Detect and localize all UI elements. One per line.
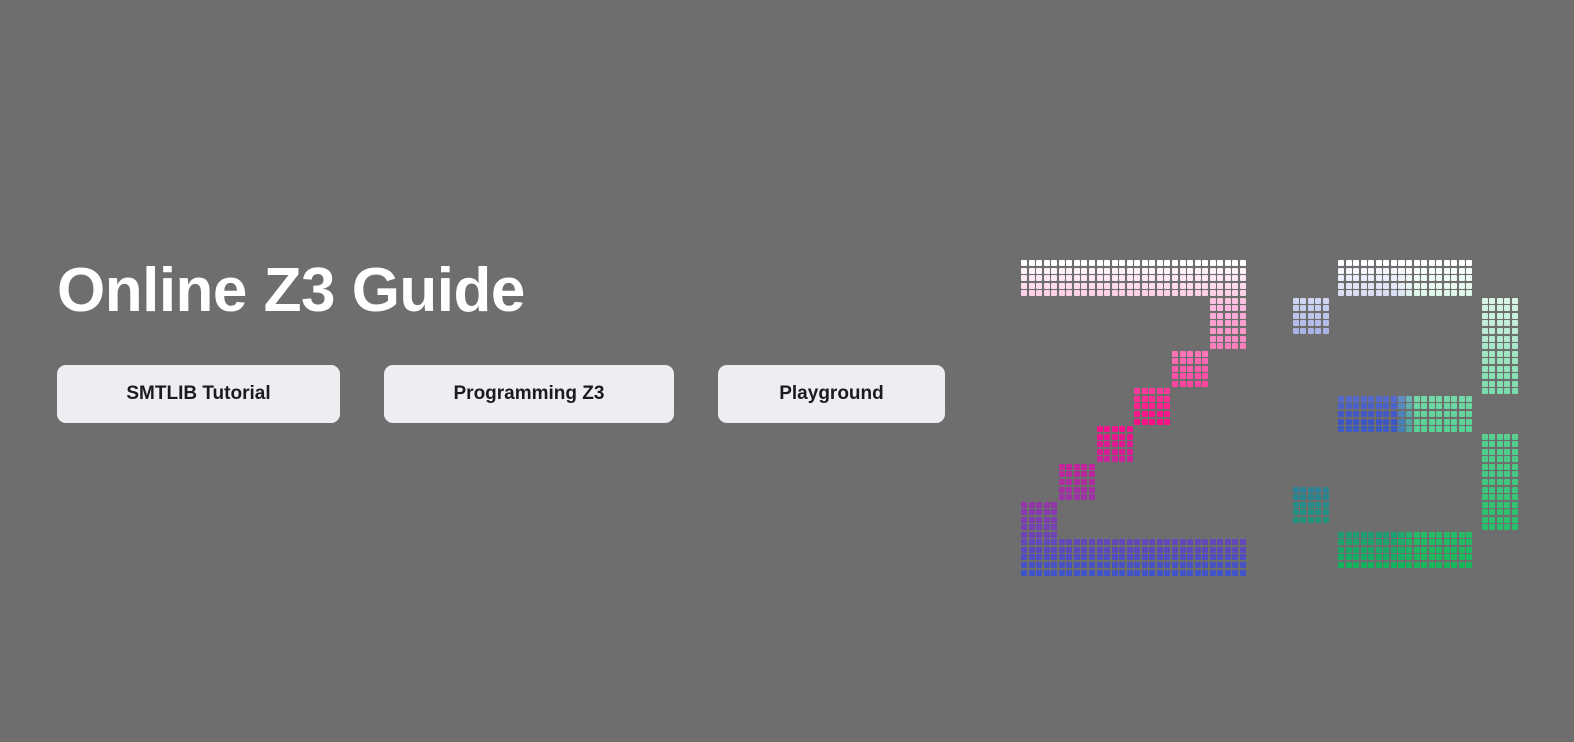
- logo-pixel: [1398, 396, 1404, 402]
- logo-pixel: [1127, 456, 1133, 462]
- logo-pixel: [1459, 290, 1465, 296]
- logo-pixel: [1504, 381, 1510, 387]
- logo-pixel: [1225, 313, 1231, 319]
- logo-pixel: [1097, 547, 1103, 553]
- logo-pixel: [1164, 403, 1170, 409]
- logo-pixel: [1134, 268, 1140, 274]
- logo-pixel: [1512, 343, 1518, 349]
- logo-pixel: [1489, 524, 1495, 530]
- logo-pixel: [1074, 494, 1080, 500]
- logo-pixel: [1059, 268, 1065, 274]
- logo-pixel: [1164, 547, 1170, 553]
- logo-pixel: [1293, 328, 1299, 334]
- logo-pixel: [1497, 381, 1503, 387]
- logo-pixel: [1240, 260, 1246, 266]
- logo-pixel: [1368, 268, 1374, 274]
- logo-pixel: [1466, 547, 1472, 553]
- logo-pixel: [1134, 570, 1140, 576]
- logo-pixel: [1346, 426, 1352, 432]
- logo-pixel: [1119, 260, 1125, 266]
- logo-pixel: [1210, 283, 1216, 289]
- logo-pixel: [1149, 396, 1155, 402]
- logo-pixel: [1225, 268, 1231, 274]
- logo-pixel: [1119, 449, 1125, 455]
- logo-pixel: [1398, 539, 1404, 545]
- logo-pixel: [1497, 524, 1503, 530]
- logo-pixel: [1406, 290, 1412, 296]
- logo-pixel: [1180, 381, 1186, 387]
- logo-pixel: [1104, 570, 1110, 576]
- logo-pixel: [1466, 290, 1472, 296]
- logo-pixel: [1338, 268, 1344, 274]
- logo-pixel: [1202, 260, 1208, 266]
- logo-pixel: [1368, 283, 1374, 289]
- logo-pixel: [1391, 275, 1397, 281]
- logo-pixel: [1497, 517, 1503, 523]
- logo-pixel: [1436, 260, 1442, 266]
- logo-pixel: [1444, 411, 1450, 417]
- logo-pixel: [1036, 539, 1042, 545]
- logo-pixel: [1489, 434, 1495, 440]
- logo-pixel: [1376, 260, 1382, 266]
- logo-pixel: [1451, 547, 1457, 553]
- logo-pixel: [1504, 305, 1510, 311]
- logo-pixel: [1127, 449, 1133, 455]
- logo-pixel: [1240, 320, 1246, 326]
- logo-pixel: [1391, 403, 1397, 409]
- logo-pixel: [1451, 554, 1457, 560]
- logo-pixel: [1210, 554, 1216, 560]
- logo-pixel: [1353, 411, 1359, 417]
- logo-pixel: [1429, 275, 1435, 281]
- logo-pixel: [1029, 570, 1035, 576]
- logo-pixel: [1436, 283, 1442, 289]
- logo-pixel: [1414, 562, 1420, 568]
- logo-pixel: [1112, 456, 1118, 462]
- logo-pixel: [1089, 290, 1095, 296]
- logo-pixel: [1097, 554, 1103, 560]
- logo-pixel: [1112, 290, 1118, 296]
- logo-pixel: [1489, 358, 1495, 364]
- logo-pixel: [1406, 554, 1412, 560]
- logo-pixel: [1089, 494, 1095, 500]
- logo-pixel: [1142, 268, 1148, 274]
- logo-pixel: [1406, 275, 1412, 281]
- logo-pixel: [1436, 396, 1442, 402]
- logo-pixel: [1195, 260, 1201, 266]
- logo-pixel: [1134, 562, 1140, 568]
- logo-pixel: [1489, 509, 1495, 515]
- logo-pixel: [1157, 539, 1163, 545]
- logo-pixel: [1217, 305, 1223, 311]
- logo-pixel: [1104, 260, 1110, 266]
- logo-pixel: [1300, 328, 1306, 334]
- logo-pixel: [1323, 502, 1329, 508]
- logo-pixel: [1346, 554, 1352, 560]
- logo-pixel: [1414, 554, 1420, 560]
- logo-pixel: [1172, 358, 1178, 364]
- logo-pixel: [1338, 275, 1344, 281]
- logo-pixel: [1383, 532, 1389, 538]
- logo-pixel: [1202, 539, 1208, 545]
- logo-pixel: [1059, 562, 1065, 568]
- logo-pixel: [1504, 373, 1510, 379]
- logo-pixel: [1134, 396, 1140, 402]
- logo-pixel: [1497, 471, 1503, 477]
- logo-pixel: [1036, 570, 1042, 576]
- logo-pixel: [1489, 479, 1495, 485]
- logo-pixel: [1421, 396, 1427, 402]
- logo-pixel: [1217, 539, 1223, 545]
- logo-pixel: [1338, 411, 1344, 417]
- logo-pixel: [1459, 411, 1465, 417]
- logo-pixel: [1104, 562, 1110, 568]
- logo-pixel: [1202, 554, 1208, 560]
- logo-pixel: [1164, 554, 1170, 560]
- logo-pixel: [1497, 479, 1503, 485]
- logo-pixel: [1504, 336, 1510, 342]
- logo-pixel: [1414, 419, 1420, 425]
- logo-pixel: [1338, 419, 1344, 425]
- logo-pixel: [1127, 275, 1133, 281]
- logo-pixel: [1164, 419, 1170, 425]
- logo-pixel: [1368, 554, 1374, 560]
- logo-pixel: [1180, 366, 1186, 372]
- logo-pixel: [1036, 554, 1042, 560]
- logo-pixel: [1421, 532, 1427, 538]
- logo-pixel: [1398, 290, 1404, 296]
- logo-pixel: [1104, 449, 1110, 455]
- logo-pixel: [1187, 351, 1193, 357]
- logo-pixel: [1361, 268, 1367, 274]
- logo-pixel: [1383, 562, 1389, 568]
- logo-pixel: [1421, 547, 1427, 553]
- logo-pixel: [1180, 275, 1186, 281]
- logo-pixel: [1482, 449, 1488, 455]
- logo-pixel: [1112, 570, 1118, 576]
- logo-pixel: [1293, 502, 1299, 508]
- logo-pixel: [1240, 547, 1246, 553]
- logo-pixel: [1451, 275, 1457, 281]
- logo-pixel: [1066, 539, 1072, 545]
- logo-pixel: [1232, 343, 1238, 349]
- logo-pixel: [1376, 396, 1382, 402]
- logo-pixel: [1368, 403, 1374, 409]
- logo-pixel: [1157, 396, 1163, 402]
- logo-pixel: [1240, 298, 1246, 304]
- logo-pixel: [1119, 275, 1125, 281]
- logo-pixel: [1044, 502, 1050, 508]
- logo-pixel: [1361, 554, 1367, 560]
- logo-pixel: [1368, 562, 1374, 568]
- logo-pixel: [1127, 539, 1133, 545]
- logo-pixel: [1398, 411, 1404, 417]
- logo-pixel: [1497, 351, 1503, 357]
- logo-pixel: [1414, 283, 1420, 289]
- logo-pixel: [1300, 305, 1306, 311]
- logo-pixel: [1459, 260, 1465, 266]
- logo-pixel: [1504, 509, 1510, 515]
- logo-pixel: [1089, 539, 1095, 545]
- logo-pixel: [1346, 539, 1352, 545]
- logo-pixel: [1308, 320, 1314, 326]
- logo-pixel: [1338, 403, 1344, 409]
- logo-pixel: [1346, 275, 1352, 281]
- logo-pixel: [1104, 456, 1110, 462]
- logo-pixel: [1497, 366, 1503, 372]
- logo-pixel: [1512, 471, 1518, 477]
- logo-pixel: [1195, 570, 1201, 576]
- logo-pixel: [1504, 320, 1510, 326]
- logo-pixel: [1346, 411, 1352, 417]
- logo-pixel: [1466, 403, 1472, 409]
- logo-pixel: [1232, 320, 1238, 326]
- logo-pixel: [1081, 471, 1087, 477]
- logo-pixel: [1164, 283, 1170, 289]
- logo-pixel: [1308, 298, 1314, 304]
- logo-pixel: [1187, 358, 1193, 364]
- logo-pixel: [1134, 260, 1140, 266]
- logo-pixel: [1081, 494, 1087, 500]
- logo-pixel: [1414, 426, 1420, 432]
- logo-pixel: [1368, 411, 1374, 417]
- logo-pixel: [1142, 419, 1148, 425]
- logo-pixel: [1315, 494, 1321, 500]
- hero-section: Online Z3 Guide SMTLIB Tutorial Programm…: [0, 0, 1574, 742]
- logo-pixel: [1149, 290, 1155, 296]
- logo-pixel: [1097, 260, 1103, 266]
- logo-pixel: [1044, 547, 1050, 553]
- logo-pixel: [1036, 509, 1042, 515]
- logo-pixel: [1104, 426, 1110, 432]
- logo-pixel: [1489, 343, 1495, 349]
- logo-pixel: [1323, 494, 1329, 500]
- logo-pixel: [1429, 419, 1435, 425]
- logo-pixel: [1051, 562, 1057, 568]
- logo-pixel: [1036, 283, 1042, 289]
- logo-pixel: [1376, 403, 1382, 409]
- logo-pixel: [1414, 403, 1420, 409]
- logo-pixel: [1142, 283, 1148, 289]
- logo-pixel: [1119, 441, 1125, 447]
- logo-pixel: [1225, 562, 1231, 568]
- logo-pixel: [1119, 434, 1125, 440]
- logo-pixel: [1353, 419, 1359, 425]
- logo-pixel: [1059, 275, 1065, 281]
- logo-pixel: [1466, 426, 1472, 432]
- logo-pixel: [1406, 562, 1412, 568]
- logo-pixel: [1353, 539, 1359, 545]
- logo-pixel: [1036, 547, 1042, 553]
- logo-pixel: [1346, 396, 1352, 402]
- logo-pixel: [1112, 268, 1118, 274]
- logo-pixel: [1429, 562, 1435, 568]
- logo-pixel: [1059, 479, 1065, 485]
- logo-pixel: [1497, 336, 1503, 342]
- logo-pixel: [1504, 328, 1510, 334]
- logo-pixel: [1406, 532, 1412, 538]
- logo-pixel: [1187, 275, 1193, 281]
- logo-pixel: [1104, 539, 1110, 545]
- logo-pixel: [1361, 290, 1367, 296]
- logo-pixel: [1512, 449, 1518, 455]
- logo-pixel: [1421, 411, 1427, 417]
- logo-pixel: [1512, 517, 1518, 523]
- logo-pixel: [1180, 351, 1186, 357]
- logo-pixel: [1315, 320, 1321, 326]
- logo-pixel: [1315, 502, 1321, 508]
- logo-pixel: [1368, 426, 1374, 432]
- logo-pixel: [1421, 275, 1427, 281]
- logo-pixel: [1436, 562, 1442, 568]
- logo-pixel: [1232, 336, 1238, 342]
- logo-pixel: [1391, 539, 1397, 545]
- logo-pixel: [1429, 403, 1435, 409]
- logo-pixel: [1232, 570, 1238, 576]
- logo-pixel: [1187, 554, 1193, 560]
- logo-pixel: [1489, 494, 1495, 500]
- logo-pixel: [1421, 260, 1427, 266]
- logo-pixel: [1059, 290, 1065, 296]
- logo-pixel: [1232, 554, 1238, 560]
- logo-pixel: [1036, 562, 1042, 568]
- logo-pixel: [1089, 471, 1095, 477]
- logo-pixel: [1338, 260, 1344, 266]
- logo-pixel: [1240, 328, 1246, 334]
- logo-pixel: [1104, 290, 1110, 296]
- logo-pixel: [1240, 268, 1246, 274]
- logo-pixel: [1346, 532, 1352, 538]
- logo-pixel: [1497, 313, 1503, 319]
- logo-pixel: [1504, 441, 1510, 447]
- logo-pixel: [1436, 539, 1442, 545]
- logo-pixel: [1293, 494, 1299, 500]
- logo-pixel: [1406, 268, 1412, 274]
- logo-pixel: [1482, 517, 1488, 523]
- logo-pixel: [1142, 547, 1148, 553]
- logo-pixel: [1081, 290, 1087, 296]
- logo-pixel: [1361, 539, 1367, 545]
- logo-pixel: [1044, 260, 1050, 266]
- logo-pixel: [1097, 275, 1103, 281]
- logo-pixel: [1044, 570, 1050, 576]
- logo-pixel: [1149, 403, 1155, 409]
- logo-pixel: [1029, 524, 1035, 530]
- logo-pixel: [1398, 403, 1404, 409]
- logo-pixel: [1044, 275, 1050, 281]
- logo-pixel: [1368, 539, 1374, 545]
- logo-pixel: [1112, 434, 1118, 440]
- logo-pixel: [1059, 494, 1065, 500]
- logo-pixel: [1429, 426, 1435, 432]
- logo-pixel: [1029, 290, 1035, 296]
- logo-pixel: [1195, 562, 1201, 568]
- logo-pixel: [1353, 532, 1359, 538]
- logo-pixel: [1451, 290, 1457, 296]
- logo-pixel: [1097, 570, 1103, 576]
- logo-pixel: [1429, 539, 1435, 545]
- logo-pixel: [1361, 275, 1367, 281]
- logo-pixel: [1436, 547, 1442, 553]
- logo-pixel: [1059, 471, 1065, 477]
- logo-pixel: [1127, 562, 1133, 568]
- logo-pixel: [1074, 479, 1080, 485]
- logo-pixel: [1157, 260, 1163, 266]
- logo-pixel: [1300, 502, 1306, 508]
- logo-pixel: [1202, 290, 1208, 296]
- logo-pixel: [1180, 562, 1186, 568]
- logo-pixel: [1300, 517, 1306, 523]
- logo-pixel: [1406, 260, 1412, 266]
- logo-pixel: [1376, 283, 1382, 289]
- logo-pixel: [1398, 554, 1404, 560]
- logo-pixel: [1391, 260, 1397, 266]
- logo-pixel: [1104, 441, 1110, 447]
- logo-pixel: [1074, 268, 1080, 274]
- logo-pixel: [1414, 290, 1420, 296]
- logo-pixel: [1142, 396, 1148, 402]
- logo-pixel: [1353, 547, 1359, 553]
- logo-pixel: [1436, 554, 1442, 560]
- logo-pixel: [1036, 275, 1042, 281]
- logo-pixel: [1497, 328, 1503, 334]
- logo-pixel: [1149, 539, 1155, 545]
- playground-button[interactable]: Playground: [718, 365, 945, 423]
- logo-pixel: [1097, 290, 1103, 296]
- logo-pixel: [1346, 283, 1352, 289]
- smtlib-tutorial-button[interactable]: SMTLIB Tutorial: [57, 365, 340, 423]
- logo-pixel: [1187, 562, 1193, 568]
- logo-pixel: [1391, 562, 1397, 568]
- logo-pixel: [1149, 554, 1155, 560]
- logo-pixel: [1225, 336, 1231, 342]
- logo-pixel: [1489, 388, 1495, 394]
- logo-pixel: [1240, 275, 1246, 281]
- logo-pixel: [1451, 532, 1457, 538]
- logo-pixel: [1134, 411, 1140, 417]
- logo-pixel: [1066, 547, 1072, 553]
- logo-pixel: [1119, 554, 1125, 560]
- logo-pixel: [1036, 290, 1042, 296]
- programming-z3-button[interactable]: Programming Z3: [384, 365, 674, 423]
- logo-pixel: [1029, 539, 1035, 545]
- logo-pixel: [1489, 464, 1495, 470]
- logo-pixel: [1240, 570, 1246, 576]
- logo-pixel: [1504, 298, 1510, 304]
- logo-pixel: [1112, 283, 1118, 289]
- logo-pixel: [1157, 411, 1163, 417]
- logo-pixel: [1217, 547, 1223, 553]
- logo-pixel: [1232, 562, 1238, 568]
- logo-pixel: [1391, 268, 1397, 274]
- logo-pixel: [1217, 313, 1223, 319]
- logo-pixel: [1504, 456, 1510, 462]
- logo-pixel: [1391, 547, 1397, 553]
- logo-pixel: [1391, 396, 1397, 402]
- logo-pixel: [1421, 539, 1427, 545]
- logo-pixel: [1436, 419, 1442, 425]
- logo-pixel: [1489, 313, 1495, 319]
- logo-pixel: [1300, 487, 1306, 493]
- logo-pixel: [1315, 328, 1321, 334]
- logo-pixel: [1180, 260, 1186, 266]
- logo-pixel: [1293, 487, 1299, 493]
- logo-pixel: [1044, 554, 1050, 560]
- logo-pixel: [1383, 290, 1389, 296]
- logo-pixel: [1044, 562, 1050, 568]
- logo-pixel: [1081, 562, 1087, 568]
- logo-pixel: [1459, 275, 1465, 281]
